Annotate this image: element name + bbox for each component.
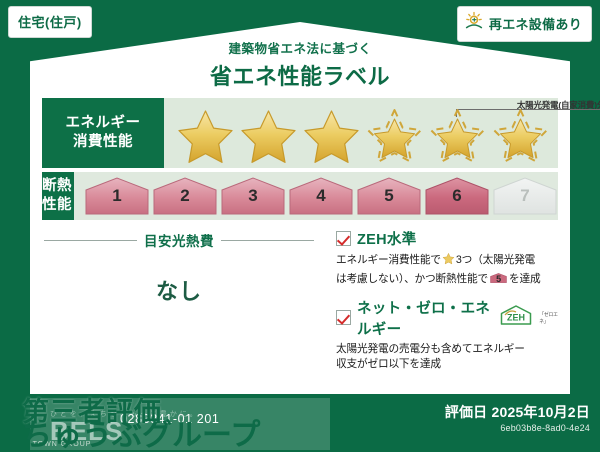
renewable-equipment-badge: 再エネ設備あり (457, 6, 592, 42)
evaluation-date-value: 2025年10月2日 (491, 404, 590, 420)
energy-performance-row: エネルギー 消費性能 太陽光発電(自家消費)分 (42, 98, 558, 168)
zeh-desc-part-d: を達成 (509, 273, 540, 285)
nze-desc-line1: 太陽光発電の売電分も含めてエネルギー (336, 343, 525, 355)
nze-desc-line2: 収支がゼロ以下を達成 (336, 358, 441, 370)
evaluation-info: 評価日 2025年10月2日 6eb03b8e-8ad0-4e24 (445, 402, 590, 433)
net-zero-energy-description: 太陽光発電の売電分も含めてエネルギー 収支がゼロ以下を達成 (336, 342, 560, 374)
net-zero-energy-item: ネット・ゼロ・エネルギー ZEH 「ゼロエネ」 (336, 297, 560, 339)
renewable-badge-label: 再エネ設備あり (489, 14, 582, 33)
insulation-label-text: 断熱性能 (42, 177, 74, 215)
evaluation-date: 評価日 2025年10月2日 (445, 402, 590, 422)
star-1-solid (174, 107, 237, 165)
sun-icon (464, 11, 484, 36)
zeh-desc-part-b: 3つ（太陽光発電 (456, 254, 535, 266)
net-zero-energy-title: ネット・ゼロ・エネルギー (357, 297, 491, 339)
footer: ひとを、まちを、もっと豊かに。 BELS TOWN GROUP 第三者評価 ちゅ… (0, 394, 600, 450)
evaluation-date-label: 評価日 (445, 404, 488, 420)
insulation-grades-area: 1 2 3 4 (74, 172, 558, 220)
insulation-grade-5-number: 5 (356, 186, 422, 206)
insulation-grade-7: 7 (492, 176, 558, 216)
insulation-grade-3: 3 (220, 176, 286, 216)
insulation-performance-label: 断熱性能 (42, 172, 74, 220)
star-6-solar (489, 107, 552, 165)
insulation-grade-2: 2 (152, 176, 218, 216)
insulation-grade-2-number: 2 (152, 186, 218, 206)
insulation-performance-row: 断熱性能 (42, 172, 558, 220)
insulation-grade-4: 4 (288, 176, 354, 216)
zeh-logo-caption: 「ゼロエネ」 (539, 311, 560, 325)
checkbox-checked-icon-2 (336, 310, 351, 325)
insulation-grade-4-number: 4 (288, 186, 354, 206)
insulation-grade-1: 1 (84, 176, 150, 216)
zeh-standard-description: エネルギー消費性能で3つ（太陽光発電 は考慮しない）、かつ断熱性能で5を達成 (336, 252, 560, 288)
zeh-standard-item: ZEH水準 (336, 228, 560, 249)
insulation-grade-3-number: 3 (220, 186, 286, 206)
zeh-logo-icon: ZEH (499, 304, 533, 331)
energy-stars-area: 太陽光発電(自家消費)分 (164, 98, 558, 168)
zeh-block: ZEH水準 エネルギー消費性能で3つ（太陽光発電 は考慮しない）、かつ断熱性能で… (336, 228, 560, 373)
estimated-utility-cost-block: 目安光熱費 なし (44, 230, 314, 306)
vertical-divider (330, 228, 331, 378)
energy-label-line1: エネルギー (66, 114, 141, 133)
insulation-grade-scale: 1 2 3 4 (74, 176, 558, 216)
insulation-grade-inline-badge: 5 (490, 271, 507, 285)
star-2-solid (237, 107, 300, 165)
insulation-grade-6: 6 (424, 176, 490, 216)
insulation-grade-7-number: 7 (492, 186, 558, 206)
star-rating (164, 107, 552, 165)
energy-performance-label: エネルギー 消費性能 (42, 98, 164, 168)
heading-rule-left (44, 240, 137, 241)
estimated-cost-value: なし (44, 274, 314, 306)
estimated-cost-heading: 目安光熱費 (44, 230, 314, 250)
zeh-desc-part-a: エネルギー消費性能で (336, 254, 441, 266)
star-4-solar (363, 107, 426, 165)
insulation-grade-5: 5 (356, 176, 422, 216)
title-main: 省エネ性能ラベル (0, 59, 600, 91)
title-block: 建築物省エネ法に基づく 省エネ性能ラベル (0, 38, 600, 91)
zeh-desc-part-c: は考慮しない）、かつ断熱性能で (336, 273, 488, 285)
checkbox-checked-icon (336, 231, 351, 246)
estimated-cost-heading-text: 目安光熱費 (144, 230, 214, 250)
zeh-standard-title: ZEH水準 (357, 228, 417, 249)
insulation-grade-inline-number: 5 (490, 273, 507, 286)
svg-text:ZEH: ZEH (507, 313, 525, 323)
label-card: エネルギー 消費性能 太陽光発電(自家消費)分 (30, 88, 570, 394)
energy-label-line2: 消費性能 (73, 133, 133, 152)
watermark-band (30, 398, 330, 450)
evaluation-id: 6eb03b8e-8ad0-4e24 (445, 423, 590, 433)
heading-rule-right (221, 240, 314, 241)
insulation-grade-6-number: 6 (424, 186, 490, 206)
star-icon-inline (442, 256, 455, 268)
star-3-solid (300, 107, 363, 165)
insulation-grade-1-number: 1 (84, 186, 150, 206)
star-5-solar (426, 107, 489, 165)
building-type-badge: 住宅(住戸) (8, 6, 92, 38)
